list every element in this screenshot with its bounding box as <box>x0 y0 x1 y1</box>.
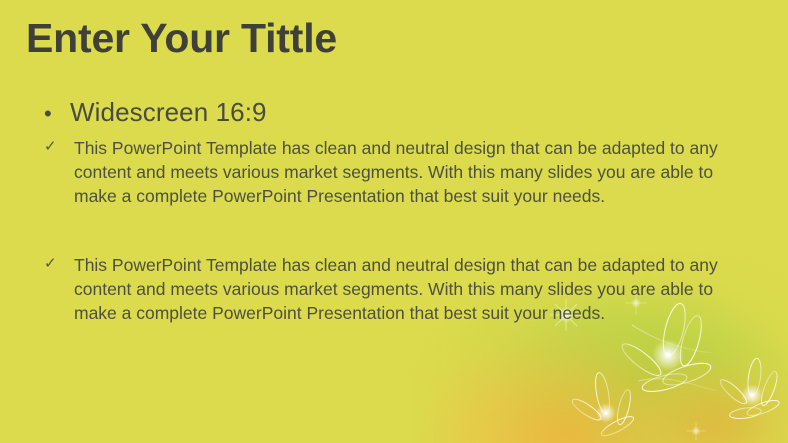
background-wash-orange-secondary <box>628 353 788 443</box>
list-item-text: This PowerPoint Template has clean and n… <box>74 253 746 325</box>
slide-body: • Widescreen 16:9 ✓ This PowerPoint Temp… <box>44 98 750 325</box>
bullet-point-icon: • <box>44 103 70 125</box>
background-wash-orange <box>428 328 728 443</box>
check-icon: ✓ <box>44 136 74 158</box>
lead-bullet-label: Widescreen 16:9 <box>70 98 267 127</box>
slide-canvas: Enter Your Tittle • Widescreen 16:9 ✓ Th… <box>0 0 788 443</box>
page-title: Enter Your Tittle <box>26 18 337 59</box>
lead-bullet-row: • Widescreen 16:9 <box>44 98 750 127</box>
list-item: ✓ This PowerPoint Template has clean and… <box>44 253 750 325</box>
list-item: ✓ This PowerPoint Template has clean and… <box>44 136 750 208</box>
check-icon: ✓ <box>44 253 74 275</box>
list-item-text: This PowerPoint Template has clean and n… <box>74 136 746 208</box>
